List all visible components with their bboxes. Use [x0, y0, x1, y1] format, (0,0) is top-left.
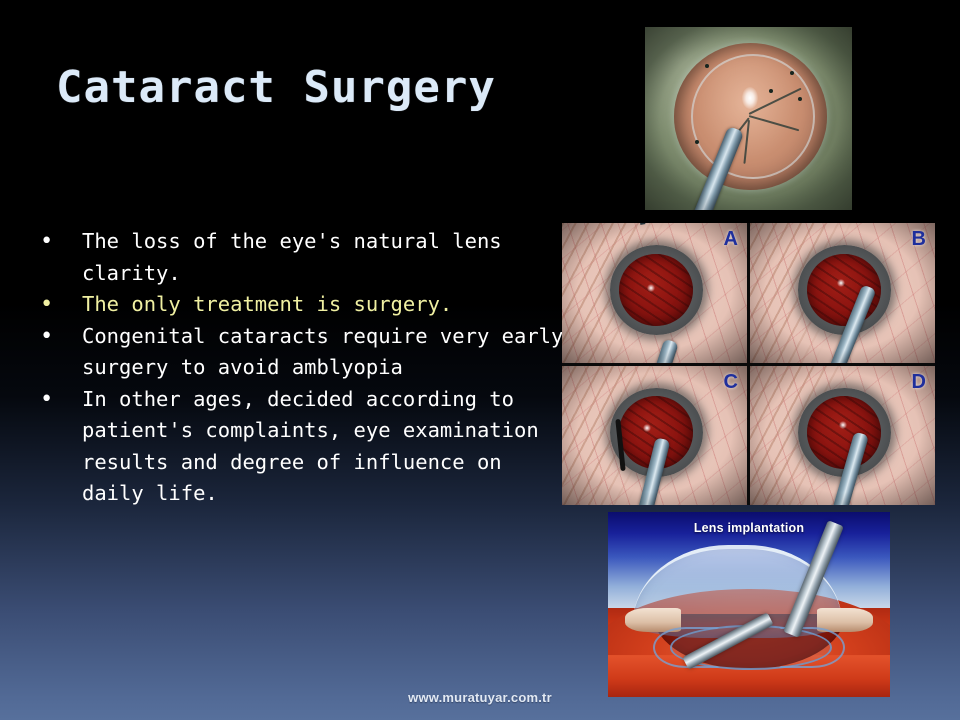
panel-label: B	[912, 228, 926, 251]
bullet-marker-icon: •	[34, 384, 82, 416]
bullet-list: • The loss of the eye's natural lens cla…	[34, 226, 574, 510]
footer-watermark: www.muratuyar.com.tr	[0, 690, 960, 705]
page-title: Cataract Surgery	[56, 62, 496, 113]
list-item: • Congenital cataracts require very earl…	[34, 321, 574, 384]
vignette-overlay	[645, 27, 852, 210]
bullet-text: In other ages, decided according to pati…	[82, 384, 574, 510]
illustration-title: Lens implantation	[608, 521, 890, 535]
grid-panel-b: B	[750, 223, 935, 363]
bullet-text: The loss of the eye's natural lens clari…	[82, 226, 574, 289]
bullet-marker-icon: •	[34, 226, 82, 258]
list-item: • The loss of the eye's natural lens cla…	[34, 226, 574, 289]
list-item: • In other ages, decided according to pa…	[34, 384, 574, 510]
panel-label: A	[724, 228, 738, 251]
surgery-steps-grid: A B C	[562, 223, 935, 505]
bullet-text-highlighted: The only treatment is surgery.	[82, 289, 574, 321]
grid-panel-d: D	[750, 366, 935, 506]
grid-panel-c: C	[562, 366, 747, 506]
bullet-marker-icon: •	[34, 289, 82, 321]
bullet-marker-icon: •	[34, 321, 82, 353]
slide-canvas: Cataract Surgery • The loss of the eye's…	[0, 0, 960, 720]
panel-label: C	[724, 371, 738, 394]
grid-panel-a: A	[562, 223, 747, 363]
vignette-overlay	[750, 223, 935, 363]
panel-label: D	[912, 371, 926, 394]
list-item: • The only treatment is surgery.	[34, 289, 574, 321]
vignette-overlay	[562, 366, 747, 506]
lens-implantation-illustration: Lens implantation	[608, 512, 890, 697]
bullet-text: Congenital cataracts require very early …	[82, 321, 574, 384]
vignette-overlay	[562, 223, 747, 363]
vignette-overlay	[750, 366, 935, 506]
surgical-microscope-eye-photo	[645, 27, 852, 210]
